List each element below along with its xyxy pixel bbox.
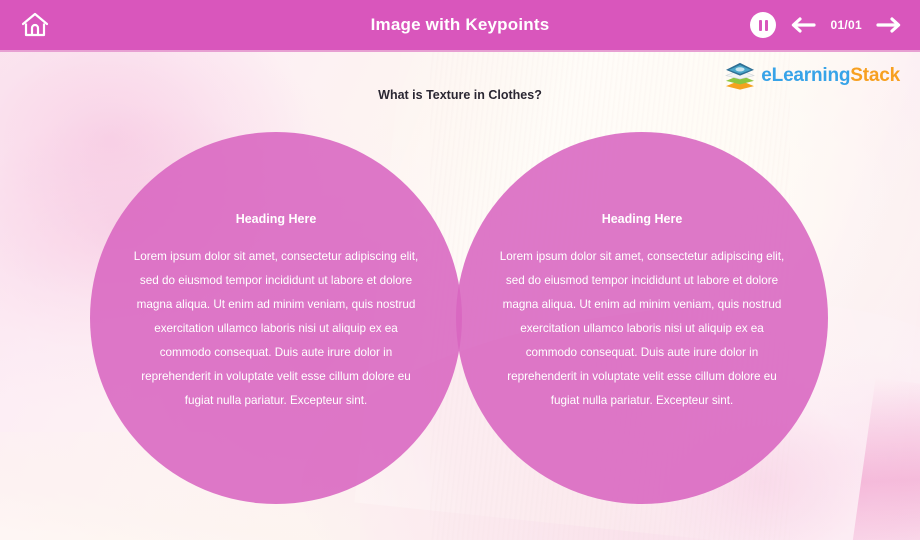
logo-text-primary: eLearning: [761, 65, 850, 86]
slide-counter: 01/01: [830, 18, 862, 32]
slide-stage: Heading Here Lorem ipsum dolor sit amet,…: [0, 0, 920, 540]
background-sweep: [845, 378, 920, 540]
pause-icon[interactable]: [750, 12, 776, 38]
keypoint-heading: Heading Here: [236, 212, 317, 226]
brand-logo: eLearningStack: [725, 62, 900, 90]
pause-bar: [765, 20, 768, 31]
keypoint-circle-left[interactable]: Heading Here Lorem ipsum dolor sit amet,…: [90, 132, 462, 504]
keypoint-body-text: Lorem ipsum dolor sit amet, consectetur …: [494, 245, 790, 413]
pause-bar: [759, 20, 762, 31]
logo-text-secondary: Stack: [850, 65, 900, 86]
keypoint-circle-right[interactable]: Heading Here Lorem ipsum dolor sit amet,…: [456, 132, 828, 504]
home-icon[interactable]: [20, 11, 50, 39]
layers-stack-icon: [725, 62, 755, 90]
keypoint-heading: Heading Here: [602, 212, 683, 226]
keypoint-body-text: Lorem ipsum dolor sit amet, consectetur …: [128, 245, 424, 413]
logo-wordmark: eLearningStack: [761, 65, 900, 87]
slide-title: What is Texture in Clothes?: [0, 88, 920, 102]
playback-navigation-controls: 01/01: [750, 0, 902, 50]
header-divider: [0, 50, 920, 52]
arrow-right-icon[interactable]: [876, 16, 902, 34]
arrow-left-icon[interactable]: [790, 16, 816, 34]
